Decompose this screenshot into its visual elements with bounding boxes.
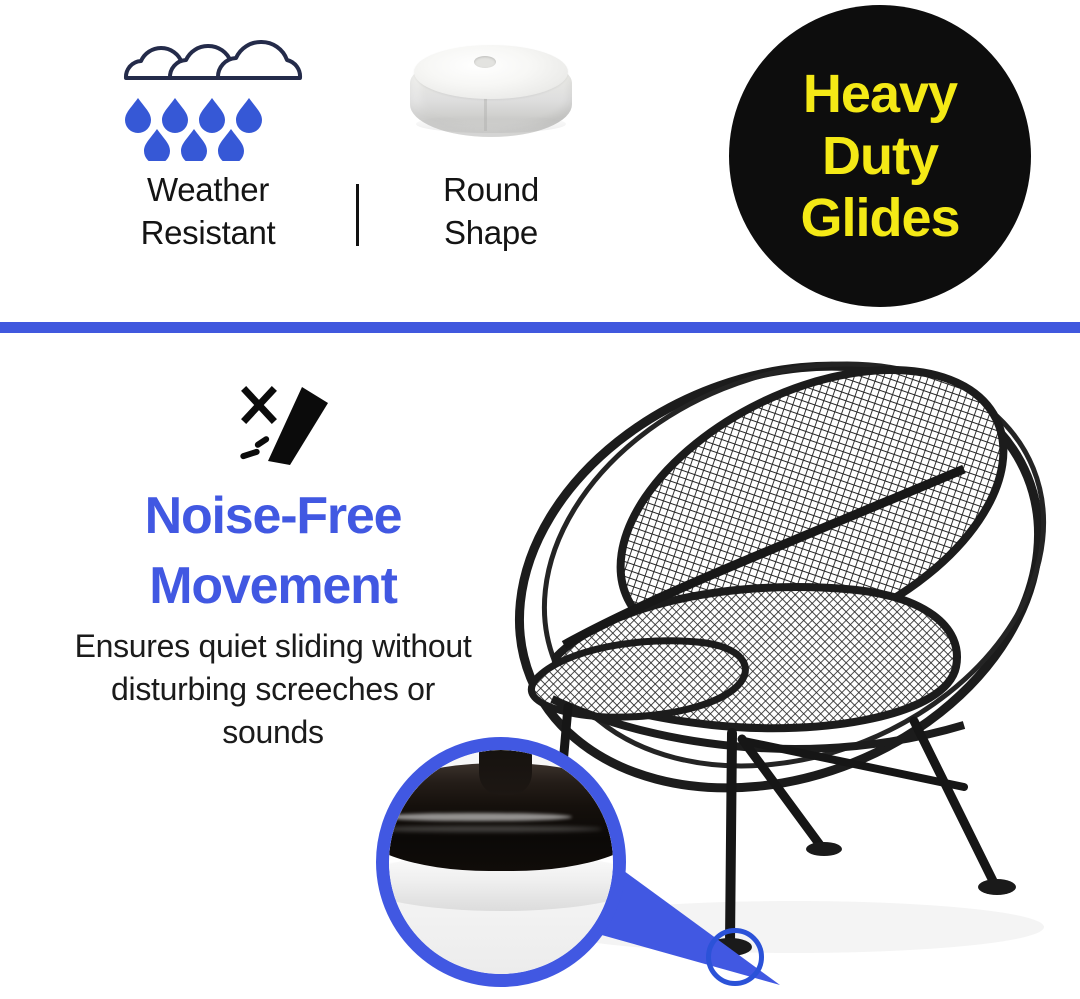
badge-line-2: Duty [822,125,938,187]
headline-noise-free-movement: Noise-Free Movement [8,481,538,621]
noise-free-panel: Noise-Free Movement Ensures quiet slidin… [0,333,1080,999]
feature-round-label-line2: Shape [388,211,594,254]
callout-target-ring [706,928,764,986]
badge-line-1: Heavy [803,63,957,125]
subtext-line-2: disturbing screeches or [12,668,534,711]
round-glide-cap-icon [406,39,576,147]
subtext-line-1: Ensures quiet sliding without [12,625,534,668]
feature-weather-label-line1: Weather [92,168,324,211]
rain-cloud-icon [108,26,308,161]
heavy-duty-badge: Heavy Duty Glides [729,5,1031,307]
top-features-panel: Weather Resistant Round Shape Heavy Duty… [0,0,1080,322]
raindrops-row-2 [144,129,244,161]
product-infographic: Weather Resistant Round Shape Heavy Duty… [0,0,1080,999]
round-glide-cap-icon-wrap [388,18,594,168]
angled-bar [268,387,328,465]
motion-flecks [240,435,271,460]
feature-round-label-line1: Round [388,168,594,211]
badge-line-3: Glides [800,187,959,249]
feature-weather-resistant: Weather Resistant [92,18,324,254]
headline-line-1: Noise-Free [8,481,538,551]
mag-leg-post [479,750,533,795]
vertical-divider [356,184,359,246]
blue-divider-bar [0,322,1080,333]
x-mark [246,391,272,419]
headline-line-2: Movement [8,551,538,621]
glide-cap-dimple [474,56,496,68]
glide-cap-top [414,45,568,99]
feature-round-shape: Round Shape [388,18,594,254]
raindrops-row-1 [125,98,262,133]
feature-weather-label-line2: Resistant [92,211,324,254]
rain-cloud-icon-wrap [92,18,324,168]
magnified-glide-detail [389,750,613,974]
magnifier-circle [376,737,626,987]
no-scratch-noise-icon [224,385,350,471]
